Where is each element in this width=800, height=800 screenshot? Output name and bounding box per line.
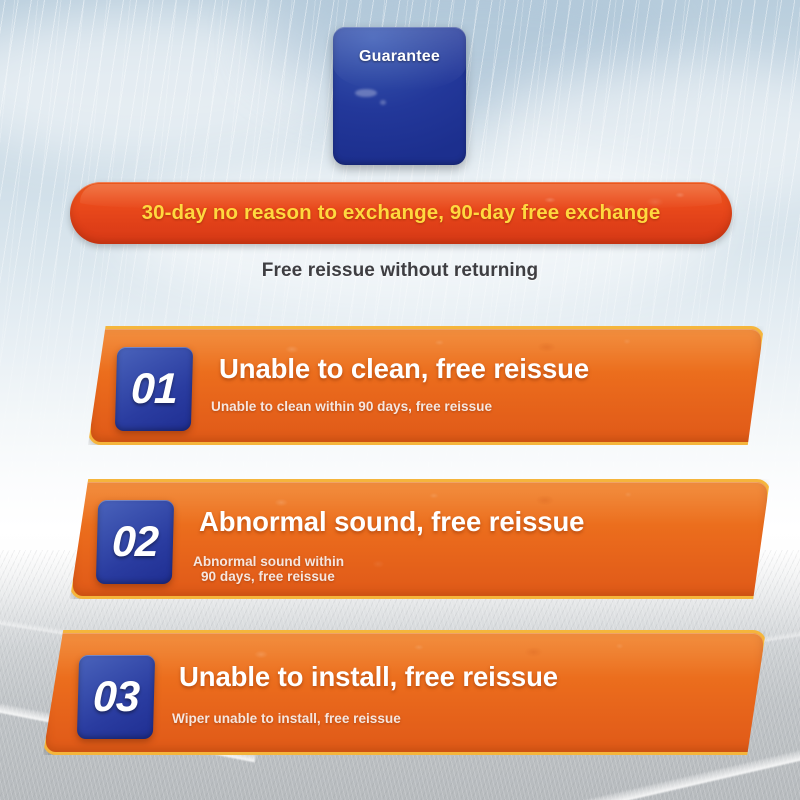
benefit-card: 02 Abnormal sound, free reissue Abnormal… — [70, 479, 770, 599]
water-droplets-icon — [73, 482, 767, 596]
card-number: 01 — [130, 368, 177, 411]
card-subtitle: Wiper unable to install, free reissue — [172, 711, 401, 726]
card-subtitle-line-2: 90 days, free reissue — [193, 569, 344, 584]
card-subtitle-line-1: Wiper unable to install, free reissue — [172, 711, 401, 726]
card-number-badge: 01 — [115, 347, 193, 431]
water-droplet-icon — [380, 100, 386, 105]
benefit-card: 01 Unable to clean, free reissue Unable … — [88, 326, 764, 445]
card-number-badge: 02 — [96, 500, 174, 584]
card-subtitle: Abnormal sound within 90 days, free reis… — [193, 554, 344, 584]
card-number: 02 — [111, 521, 158, 564]
card-subtitle: Unable to clean within 90 days, free rei… — [211, 399, 492, 414]
card-number: 03 — [92, 676, 139, 719]
cloud-shape — [0, 10, 360, 160]
cloud-shape — [260, 0, 680, 110]
card-title: Unable to clean, free reissue — [219, 353, 589, 385]
card-subtitle-line-1: Unable to clean within 90 days, free rei… — [211, 399, 492, 414]
headline-pill: 30-day no reason to exchange, 90-day fre… — [70, 182, 732, 244]
benefit-card: 03 Unable to install, free reissue Wiper… — [43, 630, 766, 755]
guarantee-badge: Guarantee — [333, 27, 466, 165]
card-number-badge: 03 — [77, 655, 155, 739]
promo-banner: Guarantee 30-day no reason to exchange, … — [0, 0, 800, 800]
headline-text: 30-day no reason to exchange, 90-day fre… — [142, 201, 661, 225]
card-title: Unable to install, free reissue — [179, 661, 558, 693]
card-subtitle-line-1: Abnormal sound within — [193, 554, 344, 569]
water-droplet-icon — [355, 89, 377, 97]
guarantee-badge-label: Guarantee — [333, 48, 466, 66]
subtitle-text: Free reissue without returning — [0, 260, 800, 282]
card-title: Abnormal sound, free reissue — [199, 506, 584, 538]
